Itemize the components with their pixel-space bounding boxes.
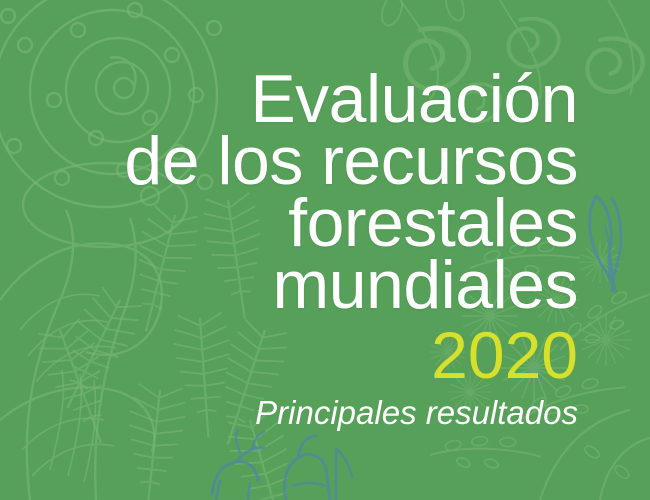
title-line-1: Evaluación: [250, 68, 578, 130]
title-line-2: de los recursos: [124, 130, 578, 192]
book-cover: Evaluación de los recursos forestales mu…: [0, 0, 650, 500]
cover-title: Evaluación de los recursos forestales mu…: [124, 68, 578, 316]
title-line-4: mundiales: [273, 254, 578, 316]
title-line-3: forestales: [288, 192, 578, 254]
cover-year: 2020: [431, 322, 578, 388]
cover-text-content: Evaluación de los recursos forestales mu…: [0, 0, 650, 500]
cover-subtitle: Principales resultados: [255, 394, 578, 432]
